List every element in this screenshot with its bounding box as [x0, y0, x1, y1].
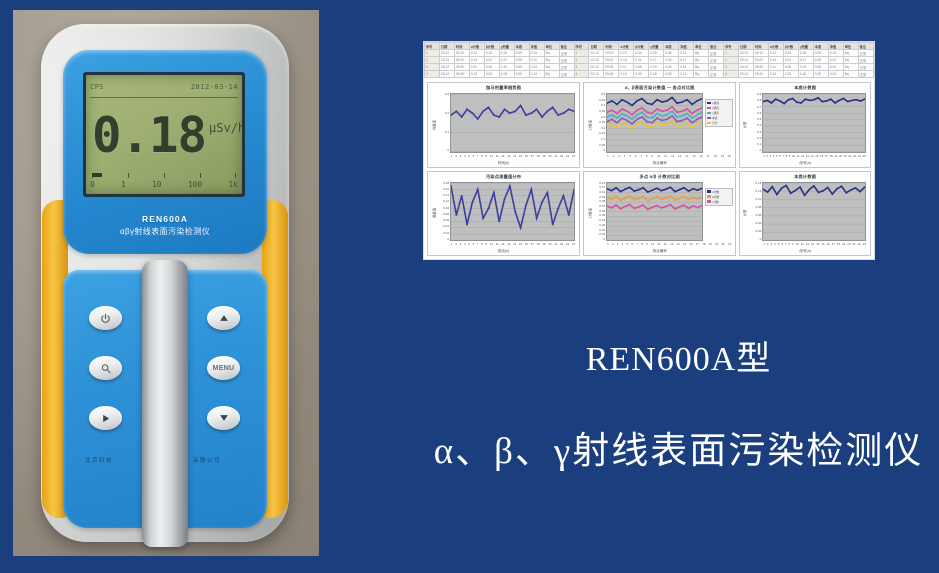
table-cell[interactable]: 09:10	[753, 50, 768, 57]
up-button[interactable]	[207, 306, 240, 330]
chart-data-point	[562, 194, 564, 196]
table-cell[interactable]: 时间	[753, 43, 768, 50]
chart-data-point	[621, 108, 623, 110]
chart-data-point	[656, 99, 658, 101]
table-cell[interactable]: 0.31	[484, 57, 499, 64]
chart-data-point	[621, 99, 623, 101]
x-tick-label: 22	[560, 154, 563, 160]
table-cell[interactable]: 0.05	[664, 64, 679, 71]
down-button[interactable]	[207, 406, 240, 430]
chart-data-point	[661, 124, 663, 126]
table-cell[interactable]: 4	[574, 71, 589, 78]
table-cell[interactable]: Bq	[544, 57, 559, 64]
chart-data-point	[832, 193, 834, 195]
table-row[interactable]: 403-1209:400.130.330.180.050.13Bq正常403-1…	[425, 71, 874, 78]
table-cell[interactable]: 0.12	[768, 50, 783, 57]
table-cell[interactable]: 0.11	[469, 64, 484, 71]
play-button[interactable]	[89, 406, 122, 430]
table-cell[interactable]: 0.05	[813, 71, 828, 78]
table-cell[interactable]: γ剂量	[499, 43, 514, 50]
chart-data-point	[626, 115, 628, 117]
chart-data-point	[616, 126, 618, 128]
x-tick-label: 24	[572, 154, 575, 160]
table-cell[interactable]: 03-12	[439, 57, 454, 64]
device-lcd: CPS 2012-03-14 0.18 µSv/h 01101001k	[83, 72, 245, 197]
chart-series-line	[607, 120, 702, 128]
chart-data-point	[671, 110, 673, 112]
x-tick-label: 10	[490, 154, 493, 160]
table-cell[interactable]: 正常	[559, 50, 574, 57]
chart-data-point	[493, 114, 495, 116]
chart-data-point	[638, 188, 640, 190]
table-cell[interactable]: 0.36	[634, 64, 649, 71]
table-cell[interactable]: Bq	[544, 64, 559, 71]
y-tick-label: 0.5	[601, 93, 605, 96]
table-cell[interactable]: 净值	[828, 43, 843, 50]
chart-data-point	[692, 187, 694, 189]
table-cell[interactable]: 本底	[514, 43, 529, 50]
chart-data-point	[661, 189, 663, 191]
table-cell[interactable]: 0.13	[679, 71, 694, 78]
table-cell[interactable]: 03-12	[739, 57, 754, 64]
table-cell[interactable]: 0.34	[484, 50, 499, 57]
table-cell[interactable]: 0.13	[679, 50, 694, 57]
table-cell[interactable]: 备注	[858, 43, 873, 50]
y-tick-label: 0.14	[755, 182, 761, 185]
table-cell[interactable]: 09:30	[604, 64, 619, 71]
table-cell[interactable]: 3	[425, 64, 440, 71]
table-cell[interactable]: 0.36	[783, 64, 798, 71]
chart-title: 本底计数图	[740, 174, 870, 180]
table-cell[interactable]: 09:10	[454, 50, 469, 57]
chart-panel[interactable]: 污染点测量值分布测量值0.180.160.140.120.100.080.060…	[427, 171, 580, 257]
y-tick-label: 0	[760, 238, 762, 241]
chart-data-point	[498, 116, 500, 118]
chart-data-point	[839, 99, 841, 101]
table-cell[interactable]: 03-12	[589, 64, 604, 71]
table-cell[interactable]: 0.11	[619, 64, 634, 71]
chart-data-point	[536, 108, 538, 110]
table-cell[interactable]: 03-12	[739, 71, 754, 78]
x-tick-label: 5	[468, 242, 470, 248]
chart-data-point	[638, 206, 640, 208]
chart-data-point	[611, 198, 613, 200]
table-cell[interactable]: Bq	[843, 71, 858, 78]
table-cell[interactable]: 09:30	[753, 64, 768, 71]
table-cell[interactable]: 09:40	[604, 71, 619, 78]
table-cell[interactable]: Bq	[694, 64, 709, 71]
chart-data-point	[676, 116, 678, 118]
chart-panel[interactable]: 伽马剂量率趋势图剂量率0.30.20.101234567891011121314…	[427, 82, 580, 168]
chart-data-point	[792, 98, 794, 100]
chart-data-point	[651, 117, 653, 119]
chart-data-point	[631, 123, 633, 125]
table-cell[interactable]: 0.12	[529, 57, 544, 64]
y-tick-label: 0.06	[599, 210, 605, 213]
table-cell[interactable]: 1	[425, 50, 440, 57]
y-tick-label: 0.10	[443, 207, 449, 210]
x-tick-label: 10	[796, 242, 799, 248]
x-tick-label: 18	[537, 242, 540, 248]
x-tick-label: 3	[770, 154, 772, 160]
x-tick-label: 13	[678, 154, 681, 160]
x-tick-label: 20	[847, 242, 850, 248]
x-tick-label: 6	[779, 154, 781, 160]
chart-data-point	[546, 191, 548, 193]
table-cell[interactable]: 正常	[559, 71, 574, 78]
chart-title: 污染点测量值分布	[428, 174, 579, 180]
table-cell[interactable]: 03-12	[439, 50, 454, 57]
chart-data-point	[681, 115, 683, 117]
table-cell[interactable]: 03-12	[439, 71, 454, 78]
table-cell[interactable]: 0.13	[828, 71, 843, 78]
chart-yticks: 0.50.450.40.350.30.250.20.150.10.050	[591, 93, 605, 153]
chart-plot-area	[450, 182, 575, 242]
chart-data-point	[826, 100, 828, 102]
table-cell[interactable]: 1	[574, 50, 589, 57]
power-button[interactable]	[89, 306, 122, 330]
legend-item: γ通道	[707, 111, 731, 115]
table-cell[interactable]: Bq	[544, 71, 559, 78]
menu-button-label: MENU	[213, 365, 235, 372]
table-cell[interactable]: 03-12	[739, 64, 754, 71]
table-cell[interactable]: β计数	[783, 43, 798, 50]
chart-data-point	[788, 99, 790, 101]
table-cell[interactable]: Bq	[843, 64, 858, 71]
x-tick-label: 12	[501, 242, 504, 248]
table-cell[interactable]: 03-12	[439, 64, 454, 71]
table-cell[interactable]: 09:40	[753, 71, 768, 78]
chart-data-point	[625, 188, 627, 190]
table-cell[interactable]: 0.05	[514, 71, 529, 78]
table-cell[interactable]: α计数	[469, 43, 484, 50]
chart-panel[interactable]: 本底计数图计数0.90.80.70.60.50.40.30.20.1012345…	[739, 82, 871, 168]
chart-data-point	[813, 99, 815, 101]
legend-label: 本底	[712, 116, 717, 120]
y-tick-label: 0.02	[755, 230, 761, 233]
table-cell[interactable]: 0.05	[514, 57, 529, 64]
chart-data-point	[641, 121, 643, 123]
chart-data-point	[647, 191, 649, 193]
chart-data-point	[692, 126, 694, 128]
table-cell[interactable]: 4	[724, 71, 739, 78]
chart-data-point	[860, 100, 862, 102]
table-cell[interactable]: 正常	[709, 57, 724, 64]
table-cell[interactable]: 0.14	[679, 64, 694, 71]
table-cell[interactable]: 0.31	[634, 57, 649, 64]
table-cell[interactable]: 0.36	[484, 64, 499, 71]
chart-panel[interactable]: 本底计数图计数0.140.120.100.080.060.040.0201234…	[739, 171, 871, 257]
chart-data-point	[509, 112, 511, 114]
chart-data-point	[670, 203, 672, 205]
table-cell[interactable]: 03-12	[739, 50, 754, 57]
chart-data-point	[809, 99, 811, 101]
table-cell[interactable]: 正常	[858, 71, 873, 78]
table-cell[interactable]: 3	[724, 64, 739, 71]
table-cell[interactable]: Bq	[544, 50, 559, 57]
table-cell[interactable]: 0.05	[813, 64, 828, 71]
chart-series-line	[763, 98, 865, 104]
chart-data-point	[546, 110, 548, 112]
table-row[interactable]: 203-1209:200.140.310.170.050.12Bq正常203-1…	[425, 57, 874, 64]
table-cell[interactable]: Bq	[843, 50, 858, 57]
chart-data-point	[525, 114, 527, 116]
x-tick-label: 17	[825, 154, 828, 160]
magnifier-icon	[100, 363, 112, 374]
table-cell[interactable]: 净值	[679, 43, 694, 50]
table-cell[interactable]: β计数	[484, 43, 499, 50]
x-tick-label: 23	[566, 154, 569, 160]
table-cell[interactable]: 0.11	[768, 64, 783, 71]
table-cell[interactable]: 正常	[559, 64, 574, 71]
table-cell[interactable]: γ剂量	[649, 43, 664, 50]
x-tick-label: 14	[811, 154, 814, 160]
table-cell[interactable]: 序号	[425, 43, 440, 50]
table-cell[interactable]: 0.34	[783, 50, 798, 57]
table-cell[interactable]: β计数	[634, 43, 649, 50]
table-cell[interactable]: 2	[574, 57, 589, 64]
table-cell[interactable]: 正常	[709, 71, 724, 78]
table-cell[interactable]: 单位	[544, 43, 559, 50]
chart-data-point	[661, 120, 663, 122]
table-cell[interactable]: 03-12	[589, 71, 604, 78]
chart-yticks: 0.140.120.100.080.060.040.020	[747, 182, 761, 242]
table-cell[interactable]: 正常	[709, 64, 724, 71]
chart-data-point	[681, 120, 683, 122]
table-cell[interactable]: 0.18	[798, 50, 813, 57]
x-tick-label: 5	[468, 154, 470, 160]
chart-data-point	[504, 198, 506, 200]
table-cell[interactable]: 净值	[529, 43, 544, 50]
y-tick-label: 0.07	[599, 205, 605, 208]
y-tick-label: 0.12	[443, 200, 449, 203]
chart-xlabel: 序号(n)	[740, 161, 870, 166]
lcd-unit: µSv/h	[209, 121, 245, 135]
table-cell[interactable]: 1	[724, 50, 739, 57]
chart-data-point	[466, 223, 468, 225]
table-cell[interactable]: 正常	[858, 50, 873, 57]
table-cell[interactable]: 0.12	[679, 57, 694, 64]
chart-data-point	[666, 114, 668, 116]
chart-data-point	[651, 103, 653, 105]
table-cell[interactable]: 03-12	[589, 57, 604, 64]
table-cell[interactable]: 0.31	[783, 57, 798, 64]
chart-data-point	[611, 118, 613, 120]
arrow-down-icon	[218, 413, 230, 423]
table-cell[interactable]: Bq	[694, 50, 709, 57]
table-cell[interactable]: 0.33	[484, 71, 499, 78]
table-cell[interactable]: 0.14	[768, 57, 783, 64]
table-cell[interactable]: 0.17	[649, 57, 664, 64]
chart-data-point	[651, 126, 653, 128]
table-cell[interactable]: 0.05	[514, 64, 529, 71]
table-cell[interactable]: 09:40	[454, 71, 469, 78]
chart-xticks: 1234567891011121314151617181920212223	[763, 242, 866, 248]
table-cell[interactable]: 09:20	[753, 57, 768, 64]
table-cell[interactable]: α计数	[768, 43, 783, 50]
table-cell[interactable]: 0.05	[664, 71, 679, 78]
table-cell[interactable]: 0.33	[783, 71, 798, 78]
x-tick-label: 11	[496, 242, 499, 248]
y-tick-label: 0.02	[599, 229, 605, 232]
table-cell[interactable]: 0.19	[499, 64, 514, 71]
table-cell[interactable]: 0.18	[798, 71, 813, 78]
table-cell[interactable]: γ剂量	[798, 43, 813, 50]
chart-data-point	[674, 207, 676, 209]
chart-data-point	[482, 110, 484, 112]
chart-panel[interactable]: α、β表面污染计数值 — 各点对比图计数率0.50.450.40.350.30.…	[583, 82, 736, 168]
table-cell[interactable]: 单位	[843, 43, 858, 50]
table-cell[interactable]: 0.19	[798, 64, 813, 71]
x-tick-label: 21	[844, 154, 847, 160]
chart-data-point	[790, 192, 792, 194]
chart-plot-area	[606, 93, 703, 153]
table-cell[interactable]: 日期	[589, 43, 604, 50]
x-tick-label: 7	[785, 242, 787, 248]
table-cell[interactable]: 0.17	[798, 57, 813, 64]
chart-data-point	[611, 100, 613, 102]
lcd-scale-tick: 100	[188, 180, 202, 194]
table-cell[interactable]: 0.18	[649, 71, 664, 78]
table-cell[interactable]: 0.34	[634, 50, 649, 57]
table-cell[interactable]: 0.12	[619, 50, 634, 57]
x-tick-label: 13	[806, 154, 809, 160]
table-cell[interactable]: 0.05	[664, 57, 679, 64]
table-cell[interactable]: 0.18	[499, 71, 514, 78]
x-tick-label: 9	[646, 242, 648, 248]
table-cell[interactable]: 0.13	[619, 71, 634, 78]
table-row[interactable]: 103-1209:100.120.340.180.050.13Bq正常103-1…	[425, 50, 874, 57]
slide-root: CPS 2012-03-14 0.18 µSv/h 01101001k REN6…	[0, 0, 939, 573]
chart-data-point	[697, 189, 699, 191]
table-cell[interactable]: 正常	[858, 57, 873, 64]
table-cell[interactable]: 09:10	[604, 50, 619, 57]
table-cell[interactable]: 0.05	[813, 57, 828, 64]
x-tick-label: 11	[496, 154, 499, 160]
chart-data-point	[477, 188, 479, 190]
table-cell[interactable]: 0.14	[828, 64, 843, 71]
table-cell[interactable]: 0.05	[813, 50, 828, 57]
table-cell[interactable]: 正常	[858, 64, 873, 71]
table-cell[interactable]: 时间	[454, 43, 469, 50]
table-cell[interactable]: 日期	[739, 43, 754, 50]
table-cell[interactable]: 2	[724, 57, 739, 64]
table-cell[interactable]: 序号	[574, 43, 589, 50]
chart-data-point	[536, 217, 538, 219]
table-cell[interactable]: 备注	[709, 43, 724, 50]
table-cell[interactable]: 2	[425, 57, 440, 64]
table-cell[interactable]: 正常	[559, 57, 574, 64]
chart-title: 伽马剂量率趋势图	[428, 85, 579, 91]
chart-data-point	[796, 101, 798, 103]
table-cell[interactable]: 日期	[439, 43, 454, 50]
table-cell[interactable]: 09:20	[454, 57, 469, 64]
chart-data-point	[666, 100, 668, 102]
table-cell[interactable]: 正常	[709, 50, 724, 57]
x-tick-label: 2	[612, 242, 614, 248]
table-cell[interactable]: 0.14	[469, 57, 484, 64]
chart-xticks: 1234567891011121314151617181920212223242…	[763, 154, 866, 160]
table-cell[interactable]: 时间	[604, 43, 619, 50]
chart-data-point	[514, 210, 516, 212]
table-cell[interactable]: 0.14	[619, 57, 634, 64]
x-tick-label: 2	[767, 242, 769, 248]
table-cell[interactable]: 备注	[559, 43, 574, 50]
table-cell[interactable]: 序号	[724, 43, 739, 50]
legend-label: γ计数	[712, 200, 718, 204]
table-cell[interactable]: 09:20	[604, 57, 619, 64]
table-cell[interactable]: α计数	[619, 43, 634, 50]
table-cell[interactable]: 单位	[694, 43, 709, 50]
chart-data-point	[504, 108, 506, 110]
chart-data-point	[779, 100, 781, 102]
x-tick-label: 2	[766, 154, 768, 160]
x-tick-label: 18	[829, 154, 832, 160]
chart-data-point	[568, 214, 570, 216]
table-cell[interactable]: 本底	[813, 43, 828, 50]
x-tick-label: 24	[858, 154, 861, 160]
table-cell[interactable]: 0.05	[664, 50, 679, 57]
table-cell[interactable]: 0.18	[649, 50, 664, 57]
table-cell[interactable]: 09:30	[454, 64, 469, 71]
x-tick-label: 14	[513, 154, 516, 160]
table-cell[interactable]: 0.19	[649, 64, 664, 71]
table-cell[interactable]: 0.12	[469, 50, 484, 57]
legend-label: α通道	[712, 101, 719, 105]
x-tick-label: 17	[696, 242, 699, 248]
search-button[interactable]	[89, 356, 122, 380]
menu-button[interactable]: MENU	[207, 356, 240, 380]
table-cell[interactable]: 0.18	[499, 50, 514, 57]
table-cell[interactable]: Bq	[694, 57, 709, 64]
table-cell[interactable]: 0.14	[529, 64, 544, 71]
chart-data-point	[697, 118, 699, 120]
chart-data-point	[805, 98, 807, 100]
chart-data-point	[786, 184, 788, 186]
table-cell[interactable]: 0.05	[514, 50, 529, 57]
table-cell[interactable]: 0.13	[768, 71, 783, 78]
x-tick-label: 4	[773, 154, 775, 160]
table-cell[interactable]: 0.13	[529, 50, 544, 57]
chart-data-point	[615, 204, 617, 206]
table-cell[interactable]: 0.17	[499, 57, 514, 64]
chart-data-point	[636, 114, 638, 116]
table-row[interactable]: 303-1209:300.110.360.190.050.14Bq正常303-1…	[425, 64, 874, 71]
table-cell[interactable]: Bq	[694, 71, 709, 78]
x-tick-label: 1	[763, 154, 765, 160]
x-tick-label: 8	[646, 154, 648, 160]
table-cell[interactable]: 0.33	[634, 71, 649, 78]
chart-data-point	[636, 100, 638, 102]
table-cell[interactable]: 0.13	[469, 71, 484, 78]
table-cell[interactable]: 0.12	[828, 57, 843, 64]
chart-panel[interactable]: 多点 α/β 计数对比图计数率0.120.110.100.090.080.070…	[583, 171, 736, 257]
chart-data-point	[671, 97, 673, 99]
table-cell[interactable]: 3	[574, 64, 589, 71]
table-cell[interactable]: 4	[425, 71, 440, 78]
table-cell[interactable]: 0.13	[529, 71, 544, 78]
table-cell[interactable]: 0.13	[828, 50, 843, 57]
table-cell[interactable]: 本底	[664, 43, 679, 50]
table-row[interactable]: 序号日期时间α计数β计数γ剂量本底净值单位备注序号日期时间α计数β计数γ剂量本底…	[425, 43, 874, 50]
legend-label: γ通道	[712, 111, 718, 115]
chart-data-point	[681, 124, 683, 126]
table-cell[interactable]: Bq	[843, 57, 858, 64]
chart-data-point	[676, 102, 678, 104]
table-cell[interactable]: 03-12	[589, 50, 604, 57]
x-tick-label: 9	[486, 242, 488, 248]
chart-data-point	[665, 188, 667, 190]
